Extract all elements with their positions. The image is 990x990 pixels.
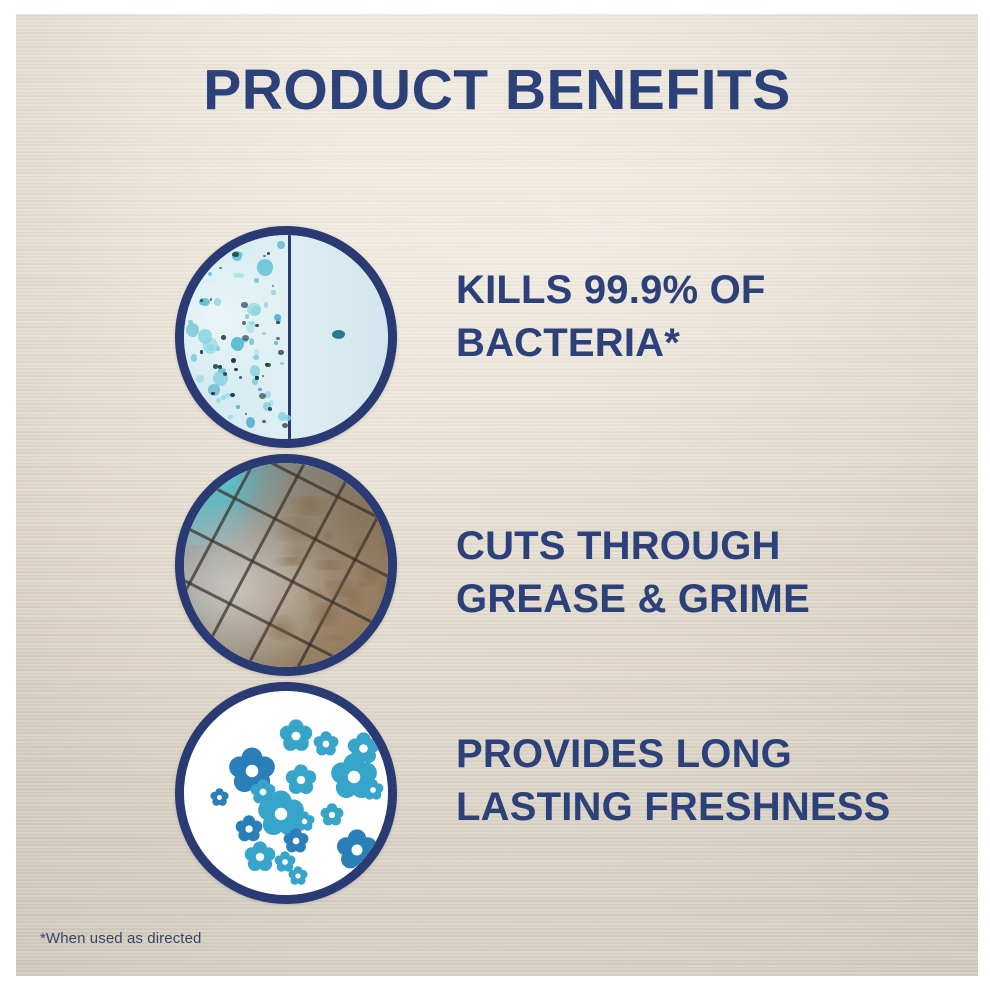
flower-icon	[210, 788, 229, 812]
grime-smudge	[348, 538, 370, 551]
benefit-text: KILLS 99.9% OF BACTERIA*	[456, 264, 956, 370]
grime-smudge	[259, 615, 303, 641]
bacteria-speck	[230, 393, 235, 397]
bacteria-colony	[196, 375, 204, 384]
grime-smudge	[321, 580, 338, 587]
grime-smudge	[313, 635, 356, 641]
bacteria-speck	[221, 335, 227, 340]
benefit-text-line-1: PROVIDES LONG	[456, 728, 956, 781]
bacteria-colony	[245, 314, 249, 318]
flower-icon	[244, 841, 276, 878]
residual-bacteria-spot	[332, 330, 345, 339]
benefit-image-petri-dish-bacteria-comparison	[175, 226, 397, 448]
benefit-text-line-2: BACTERIA*	[456, 317, 956, 370]
bacteria-speck	[200, 350, 204, 353]
grime-smudge	[267, 557, 314, 566]
bacteria-colony	[257, 259, 272, 276]
bacteria-colony	[214, 298, 221, 306]
bacteria-speck	[245, 413, 247, 415]
bacteria-speck	[282, 423, 288, 428]
benefit-text: PROVIDES LONG LASTING FRESHNESS	[456, 728, 956, 834]
benefit-text-line-2: LASTING FRESHNESS	[456, 781, 956, 834]
bacteria-speck	[234, 368, 238, 371]
bacteria-speck	[263, 255, 266, 257]
benefit-row: CUTS THROUGH GREASE & GRIME	[16, 450, 978, 680]
bacteria-colony	[271, 290, 275, 294]
tile-floor-icon	[184, 463, 388, 667]
bacteria-speck	[242, 335, 249, 341]
bacteria-speck	[200, 299, 203, 302]
bacteria-colony	[236, 405, 240, 409]
bacteria-colony	[262, 332, 266, 335]
flower-icon	[279, 719, 313, 758]
bacteria-colony	[246, 322, 255, 333]
bacteria-speck	[232, 252, 238, 257]
grime-smudge	[278, 496, 338, 515]
flower-icon	[336, 829, 378, 876]
benefit-text-line-2: GREASE & GRIME	[456, 573, 956, 626]
bacteria-colony	[237, 273, 244, 278]
flower-icon	[288, 866, 308, 891]
bacteria-speck	[278, 350, 283, 355]
bacteria-speck	[276, 337, 279, 340]
benefit-text-line-1: KILLS 99.9% OF	[456, 264, 956, 317]
bacteria-colony	[264, 302, 268, 307]
benefit-text: CUTS THROUGH GREASE & GRIME	[456, 520, 956, 626]
petri-dish-icon	[184, 235, 388, 439]
flowers-icon	[184, 691, 388, 895]
bacteria-speck	[218, 365, 222, 369]
bacteria-colony	[254, 278, 259, 282]
bacteria-speck	[231, 358, 236, 362]
bacteria-speck	[265, 363, 270, 368]
bacteria-speck	[223, 372, 227, 376]
benefit-text-line-1: CUTS THROUGH	[456, 520, 956, 573]
benefit-row: PROVIDES LONG LASTING FRESHNESS	[16, 678, 978, 908]
page-title: PRODUCT BENEFITS	[16, 62, 978, 119]
bacteria-colony	[247, 303, 261, 317]
bacteria-colony	[277, 241, 284, 249]
bacteria-colony	[285, 415, 291, 421]
product-benefits-panel: PRODUCT BENEFITS KILLS 99.9% OF BACTERIA…	[0, 0, 990, 990]
bacteria-colony	[221, 395, 226, 400]
bacteria-speck	[272, 285, 274, 287]
bacteria-colony	[253, 355, 259, 360]
bacteria-colony	[203, 338, 218, 354]
bacteria-speck	[241, 302, 248, 308]
flower-icon	[320, 803, 344, 832]
bacteria-speck	[267, 252, 270, 255]
benefit-image-blue-flowers-freshness	[175, 682, 397, 904]
benefit-image-tile-floor-grease-grime	[175, 454, 397, 676]
benefit-row: KILLS 99.9% OF BACTERIA*	[16, 222, 978, 452]
brushed-background: PRODUCT BENEFITS KILLS 99.9% OF BACTERIA…	[16, 14, 978, 976]
petri-divider-line	[288, 235, 291, 439]
bacteria-colony	[278, 412, 285, 421]
grime-smudge	[338, 589, 368, 609]
footnote: *When used as directed	[40, 930, 201, 947]
flower-icon	[362, 779, 384, 806]
